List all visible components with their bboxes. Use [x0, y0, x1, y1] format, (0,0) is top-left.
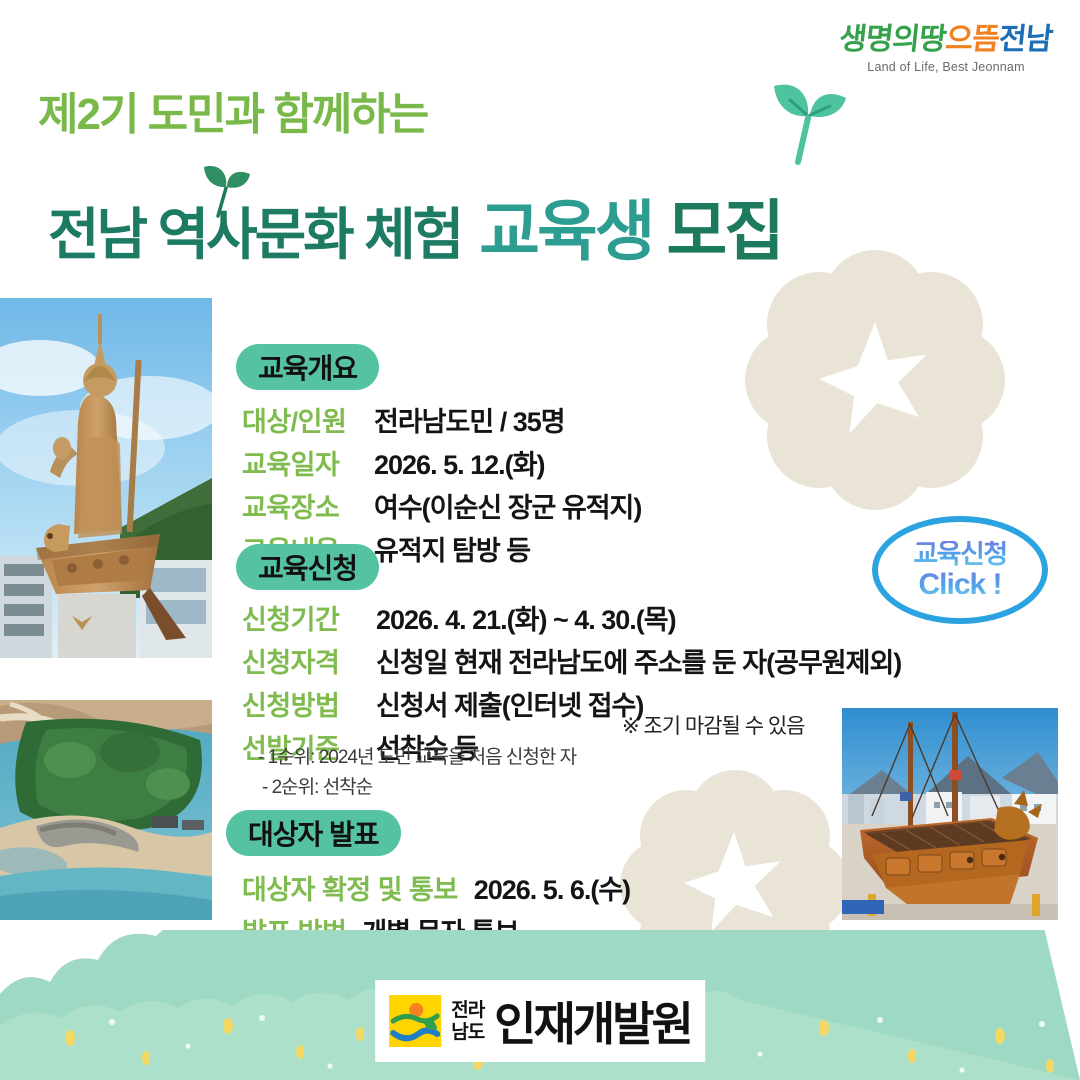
table-row: 대상/인원 전라남도민 / 35명 [242, 400, 641, 439]
row-value: 전라남도민 / 35명 [374, 400, 565, 439]
footer-org-prefix-line1: 전라 [451, 1001, 484, 1020]
row-label: 신청기간 [242, 598, 370, 637]
title-part-2: 교육생 [479, 194, 652, 268]
row-value-suffix: (공무원제외) [766, 641, 901, 680]
row-value: 신청일 현재 전라남도에 주소를 둔 자 [376, 641, 766, 680]
click-button-line2: Click ! [918, 570, 1001, 600]
section-pill-announce: 대상자 발표 [226, 810, 401, 856]
row-label: 대상자 확정 및 통보 [242, 868, 458, 907]
row-value: 유적지 탐방 등 [374, 529, 530, 568]
brand-logo-tagline: Land of Life, Best Jeonnam [826, 60, 1066, 74]
title-part-1: 전남 역사문화 체험 [48, 203, 461, 266]
click-button-line1: 교육신청 [913, 541, 1006, 568]
early-closing-note: ※ 조기 마감될 수 있음 [622, 710, 805, 740]
poster-title: 전남 역사문화 체험교육생모집 [48, 178, 782, 274]
jeonnam-emblem-icon [389, 995, 441, 1047]
coastal-heritage-photo [0, 700, 212, 920]
table-row: 교육일자 2026. 5. 12.(화) [242, 443, 641, 482]
footer-org-prefix: 전라 남도 [451, 1001, 484, 1042]
yi-sunsin-statue-photo [0, 298, 212, 658]
flower-decoration-top [745, 250, 1005, 510]
footer-org-prefix-line2: 남도 [451, 1023, 484, 1042]
priority-note-1: - 1순위: 2024년 도민 교육을 처음 신청한 자 [258, 742, 576, 769]
title-part-3: 모집 [666, 194, 781, 268]
poster-kicker: 제2기 도민과 함께하는 [38, 78, 427, 142]
row-value: 2026. 4. 21.(화) ~ 4. 30.(목) [376, 598, 676, 637]
table-row: 신청자격 신청일 현재 전라남도에 주소를 둔 자(공무원제외) [242, 641, 901, 680]
table-row: 신청기간 2026. 4. 21.(화) ~ 4. 30.(목) [242, 598, 901, 637]
footer-org-name: 인재개발원 [494, 988, 691, 1054]
row-label: 교육일자 [242, 443, 364, 482]
row-value: 2026. 5. 12.(화) [374, 443, 544, 482]
sprout-icon-large [752, 62, 848, 166]
row-value: 신청서 제출(인터넷 접수) [376, 684, 643, 723]
apply-click-button[interactable]: 교육신청 Click ! [872, 516, 1048, 624]
jeonnam-hrd-institute-logo: 전라 남도 인재개발원 [375, 980, 705, 1062]
row-value: 여수(이순신 장군 유적지) [374, 486, 641, 525]
priority-note-2: - 2순위: 선착순 [262, 772, 372, 799]
section-pill-apply: 교육신청 [236, 544, 379, 590]
table-row: 교육장소 여수(이순신 장군 유적지) [242, 486, 641, 525]
table-row: 대상자 확정 및 통보 2026. 5. 6.(수) [242, 868, 630, 907]
section-pill-overview: 교육개요 [236, 344, 379, 390]
footer-decoration: 전라 남도 인재개발원 [0, 930, 1080, 1080]
row-value: 2026. 5. 6.(수) [474, 868, 630, 907]
row-label: 신청방법 [242, 684, 370, 723]
poster-canvas: 생명의땅으뜸전남 Land of Life, Best Jeonnam 제2기 … [0, 0, 1080, 1080]
row-label: 신청자격 [242, 641, 370, 680]
brand-logo-korean: 생명의땅으뜸전남 [824, 14, 1069, 58]
jeonnam-brand-logo: 생명의땅으뜸전남 Land of Life, Best Jeonnam [826, 14, 1066, 84]
row-label: 교육장소 [242, 486, 364, 525]
row-label: 대상/인원 [242, 400, 364, 439]
